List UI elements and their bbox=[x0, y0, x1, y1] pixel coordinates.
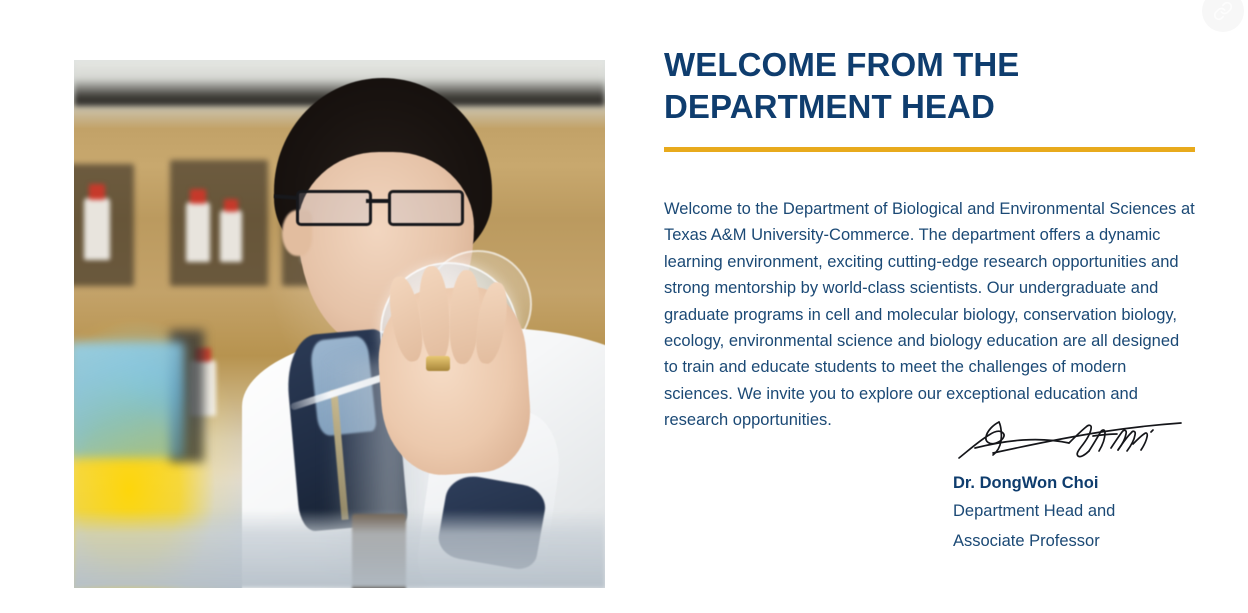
photo-subject-glasses bbox=[296, 190, 466, 224]
welcome-article: Welcome from the Department Head Welcome… bbox=[664, 44, 1195, 434]
photo-monitor-screen bbox=[74, 342, 184, 458]
signature-title-line-2: Associate Professor bbox=[953, 526, 1198, 556]
photo-cabinet-panel bbox=[170, 160, 268, 286]
share-link-button[interactable] bbox=[1202, 0, 1244, 32]
photo-reagent-bottle bbox=[186, 202, 210, 262]
welcome-body-text: Welcome to the Department of Biological … bbox=[664, 152, 1195, 434]
photo-reagent-bottle bbox=[220, 210, 242, 262]
page-title: Welcome from the Department Head bbox=[664, 44, 1195, 128]
signature-block: Dr. DongWon Choi Department Head and Ass… bbox=[953, 414, 1198, 556]
photo-lab-bench bbox=[74, 510, 605, 588]
photo-reagent-bottle bbox=[84, 198, 110, 260]
link-chain-icon bbox=[1213, 1, 1233, 21]
signature-name: Dr. DongWon Choi bbox=[953, 470, 1198, 496]
photo-scene bbox=[74, 60, 605, 588]
photo-gold-ring bbox=[426, 356, 450, 371]
signature-image bbox=[953, 414, 1198, 464]
signature-title-line-1: Department Head and bbox=[953, 496, 1198, 526]
department-head-photo bbox=[74, 60, 605, 588]
